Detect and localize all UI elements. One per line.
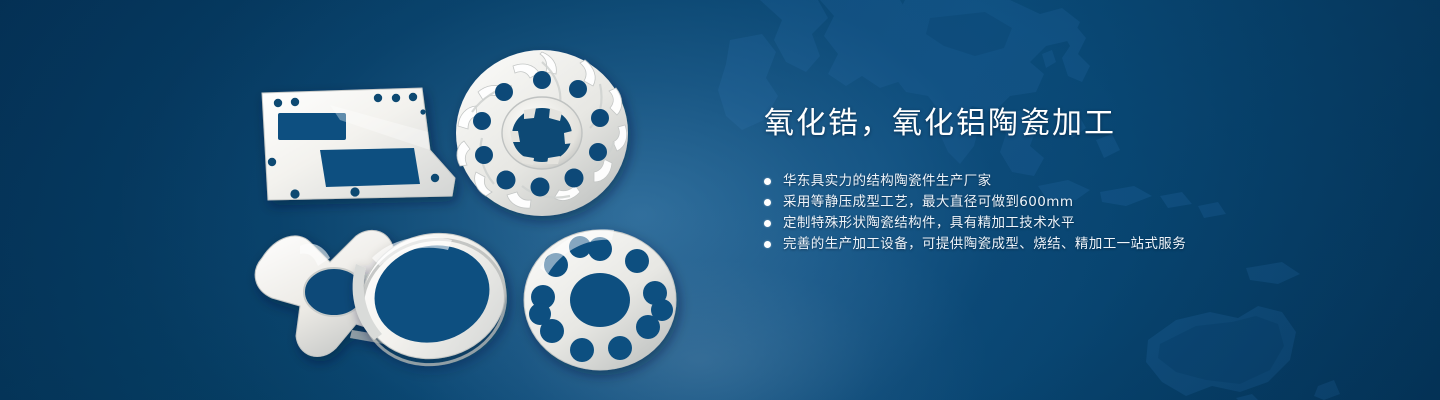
bullet-text: 完善的生产加工设备，可提供陶瓷成型、烧结、精加工一站式服务 (783, 234, 1186, 255)
ceramic-hole-disc-part (524, 229, 676, 370)
bullet-dot-icon (764, 199, 771, 206)
bullet-dot-icon (764, 178, 771, 185)
list-item: 完善的生产加工设备，可提供陶瓷成型、烧结、精加工一站式服务 (764, 234, 1324, 255)
page-title: 氧化锆，氧化铝陶瓷加工 (764, 104, 1324, 144)
list-item: 定制特殊形状陶瓷结构件，具有精加工技术水平 (764, 213, 1324, 234)
list-item: 华东具实力的结构陶瓷件生产厂家 (764, 171, 1324, 192)
feature-bullet-list: 华东具实力的结构陶瓷件生产厂家 采用等静压成型工艺，最大直径可做到600mm 定… (764, 171, 1324, 255)
ceramic-impeller-part (456, 50, 628, 216)
bullet-text: 采用等静压成型工艺，最大直径可做到600mm (783, 192, 1073, 213)
bullet-dot-icon (764, 220, 771, 227)
banner-text-panel: 氧化锆，氧化铝陶瓷加工 华东具实力的结构陶瓷件生产厂家 采用等静压成型工艺，最大… (764, 104, 1324, 255)
bullet-text: 华东具实力的结构陶瓷件生产厂家 (783, 171, 992, 192)
ceramic-parts-artwork (0, 0, 740, 400)
list-item: 采用等静压成型工艺，最大直径可做到600mm (764, 192, 1324, 213)
ceramic-plate-part (262, 88, 455, 200)
bullet-text: 定制特殊形状陶瓷结构件，具有精加工技术水平 (783, 213, 1075, 234)
bullet-dot-icon (764, 241, 771, 248)
promo-banner: 氧化锆，氧化铝陶瓷加工 华东具实力的结构陶瓷件生产厂家 采用等静压成型工艺，最大… (0, 0, 1440, 400)
